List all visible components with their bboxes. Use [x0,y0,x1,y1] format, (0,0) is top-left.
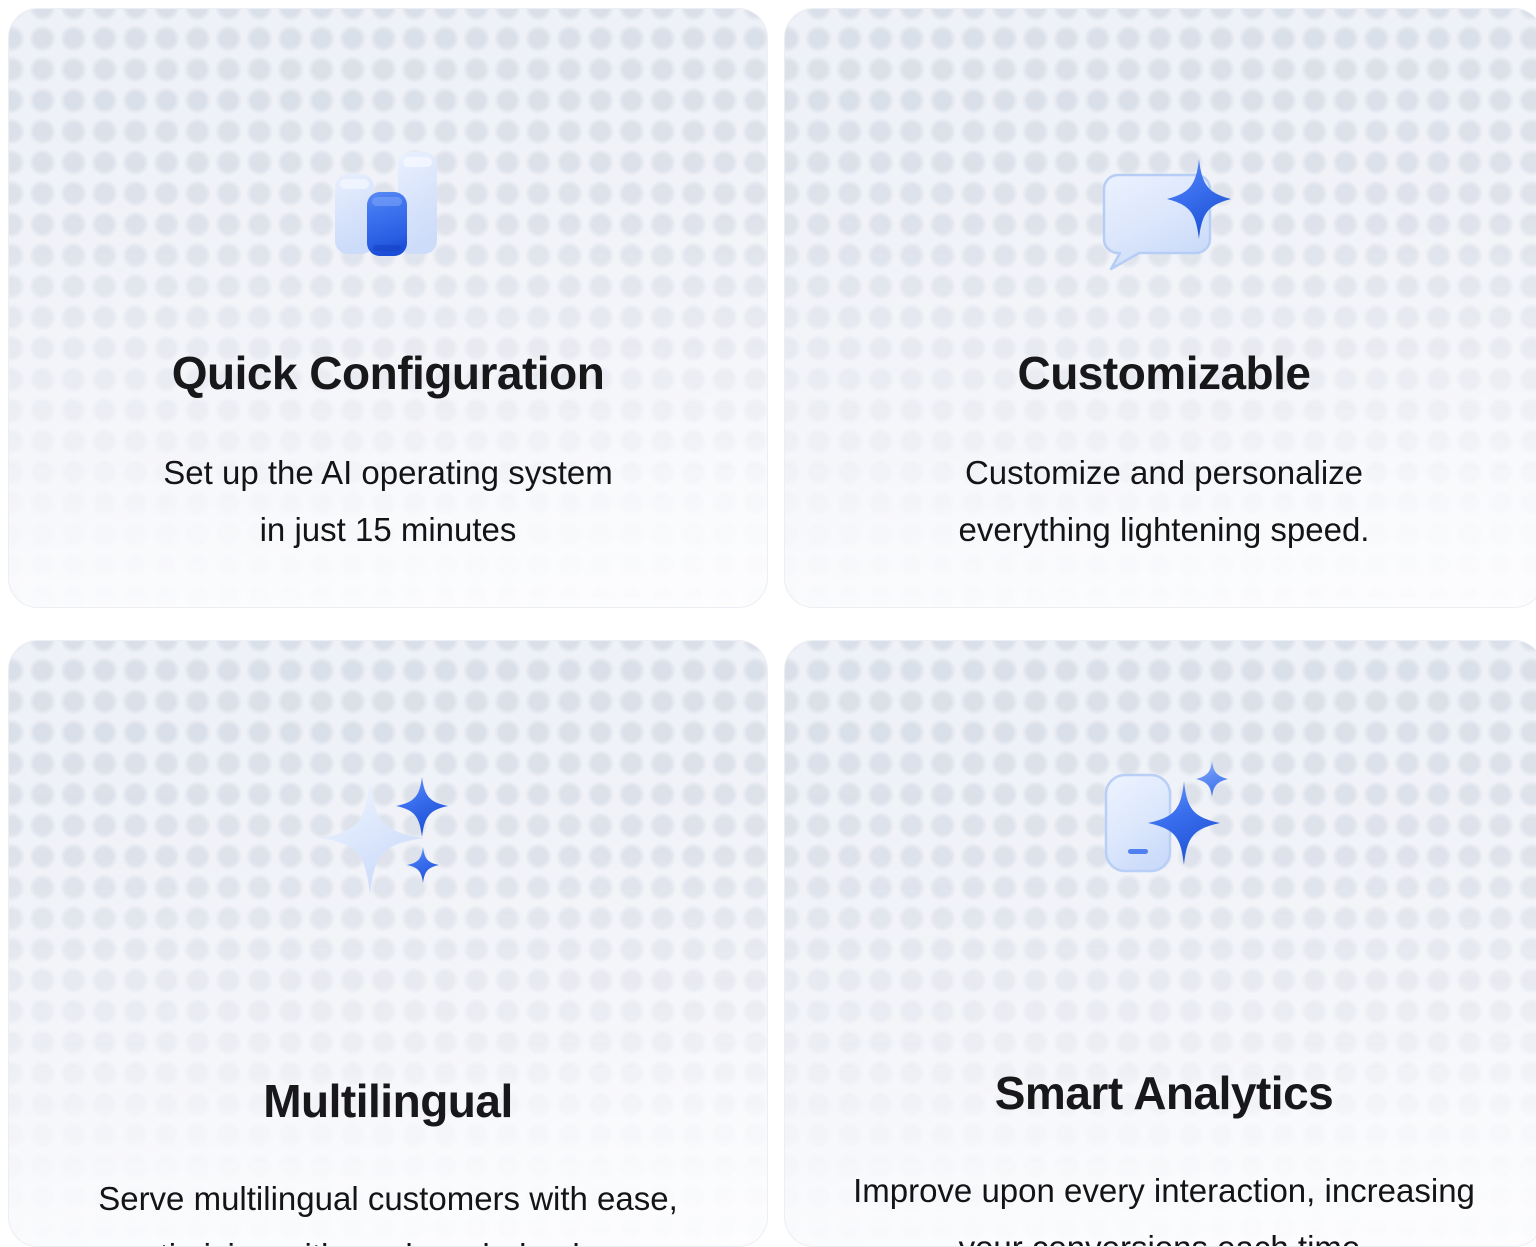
feature-card-grid: Quick Configuration Set up the AI operat… [0,0,1536,1239]
card-title: Customizable [1017,349,1310,397]
card-description: Improve upon every interaction, increasi… [853,1163,1475,1247]
feature-card-customizable[interactable]: Customizable Customize and personalize e… [784,8,1536,608]
triple-sparkle-icon [318,769,458,899]
card-description: Serve multilingual customers with ease, … [98,1171,678,1247]
card-description: Customize and personalize everything lig… [959,445,1370,559]
card-description: Set up the AI operating system in just 1… [163,445,612,559]
card-title: Quick Configuration [172,349,605,397]
analytics-card-sparkle-icon [1096,759,1232,887]
chat-bubble-sparkle-icon [1094,139,1234,289]
bar-chart-sliders-icon [323,131,453,281]
feature-card-multilingual[interactable]: Multilingual Serve multilingual customer… [8,640,768,1247]
card-title: Smart Analytics [995,1069,1334,1117]
feature-card-smart-analytics[interactable]: Smart Analytics Improve upon every inter… [784,640,1536,1247]
feature-card-quick-configuration[interactable]: Quick Configuration Set up the AI operat… [8,8,768,608]
card-title: Multilingual [263,1077,513,1125]
